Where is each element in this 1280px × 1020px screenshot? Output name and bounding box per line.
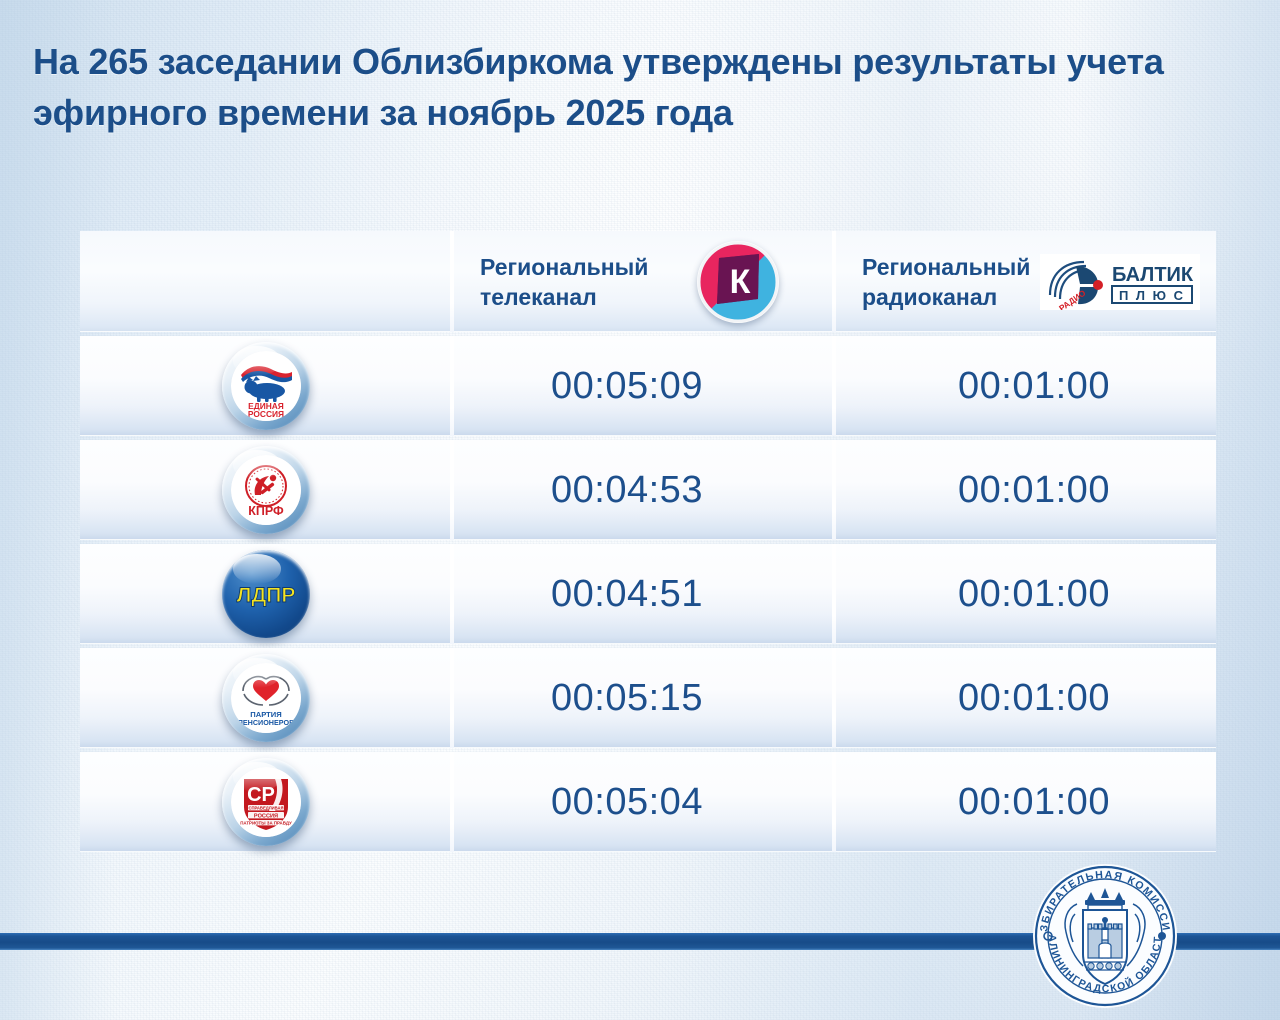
radio-logo-wrap: РАДИО БАЛТИК П Л Ю С	[1030, 254, 1216, 310]
radio-baltic-plus-logo-icon: РАДИО БАЛТИК П Л Ю С	[1040, 254, 1200, 310]
radio-time-value: 00:01:00	[834, 365, 1216, 408]
party-name-line1: ЛДПР	[237, 584, 296, 607]
slide-background: На 265 заседании Облизбиркома утверждены…	[0, 0, 1280, 1020]
tv-time-value: 00:04:51	[452, 573, 834, 616]
radio-column-label: Региональный радиоканал	[834, 252, 1030, 312]
kaskad-letter: К	[730, 263, 751, 301]
table-row: ЛДПР 00:04:51 00:01:00	[80, 544, 1216, 644]
svg-text:РОССИЯ: РОССИЯ	[254, 813, 278, 819]
tv-time-value: 00:05:15	[452, 677, 834, 720]
party-name-line2: ПЕНСИОНЕРОВ	[238, 718, 295, 727]
izbiratelnaya-komissiya-emblem-icon: ИЗБИРАТЕЛЬНАЯ КОМИССИЯ КАЛИНИНГРАДСКОЙ О…	[1031, 862, 1179, 1010]
kprf-logo-icon: КПРФ	[222, 446, 310, 534]
table-header-row: Региональный телеканал	[80, 231, 1216, 332]
header-cell-radio: Региональный радиоканал	[834, 231, 1216, 332]
party-cell: СР СПРАВЕДЛИВАЯ РОССИЯ ПАТРИОТЫ ЗА ПРАВД…	[80, 752, 452, 852]
radio-time-value: 00:01:00	[834, 573, 1216, 616]
radio-time-value: 00:01:00	[834, 469, 1216, 512]
radio-time-cell: 00:01:00	[834, 648, 1216, 748]
ldpr-logo-icon: ЛДПР	[222, 550, 310, 638]
baltic-word: БАЛТИК	[1112, 264, 1194, 286]
spravedlivaya-rossiya-logo-icon: СР СПРАВЕДЛИВАЯ РОССИЯ ПАТРИОТЫ ЗА ПРАВД…	[222, 758, 310, 846]
tv-time-cell: 00:04:53	[452, 440, 834, 540]
tv-time-cell: 00:05:04	[452, 752, 834, 852]
page-title: На 265 заседании Облизбиркома утверждены…	[33, 36, 1198, 138]
plus-word: П Л Ю С	[1119, 288, 1185, 303]
party-cell: ЛДПР	[80, 544, 452, 644]
party-cell: КПРФ	[80, 440, 452, 540]
radio-time-cell: 00:01:00	[834, 336, 1216, 436]
party-name-line1: КПРФ	[248, 504, 284, 518]
svg-text:СПРАВЕДЛИВАЯ: СПРАВЕДЛИВАЯ	[248, 805, 283, 810]
edinaya-rossiya-logo-icon: ЕДИНАЯ РОССИЯ	[222, 342, 310, 430]
partiya-pensionerov-logo-icon: ПАРТИЯ ПЕНСИОНЕРОВ	[222, 654, 310, 742]
radio-time-value: 00:01:00	[834, 677, 1216, 720]
table-row: ЕДИНАЯ РОССИЯ 00:05:09 00:01:00	[80, 336, 1216, 436]
tv-logo-wrap: К	[648, 241, 834, 323]
tv-time-cell: 00:05:09	[452, 336, 834, 436]
header-cell-party	[80, 231, 452, 332]
radio-time-cell: 00:01:00	[834, 752, 1216, 852]
radio-time-cell: 00:01:00	[834, 544, 1216, 644]
party-name-line1: СР	[247, 784, 275, 806]
party-cell: ЕДИНАЯ РОССИЯ	[80, 336, 452, 436]
table-row: СР СПРАВЕДЛИВАЯ РОССИЯ ПАТРИОТЫ ЗА ПРАВД…	[80, 752, 1216, 852]
tv-time-value: 00:05:09	[452, 365, 834, 408]
tv-time-cell: 00:05:15	[452, 648, 834, 748]
kaskad-tv-logo-icon: К	[697, 241, 779, 323]
tv-time-value: 00:04:53	[452, 469, 834, 512]
tv-column-label: Региональный телеканал	[452, 252, 648, 312]
airtime-table: Региональный телеканал	[80, 231, 1216, 852]
tv-time-value: 00:05:04	[452, 781, 834, 824]
radio-time-cell: 00:01:00	[834, 440, 1216, 540]
party-cell: ПАРТИЯ ПЕНСИОНЕРОВ	[80, 648, 452, 748]
svg-text:ПАТРИОТЫ ЗА ПРАВДУ: ПАТРИОТЫ ЗА ПРАВДУ	[240, 821, 292, 826]
table-row: КПРФ 00:04:53 00:01:00	[80, 440, 1216, 540]
tv-time-cell: 00:04:51	[452, 544, 834, 644]
header-cell-tv: Региональный телеканал	[452, 231, 834, 332]
party-name-line2: РОССИЯ	[248, 409, 284, 419]
radio-time-value: 00:01:00	[834, 781, 1216, 824]
table-row: ПАРТИЯ ПЕНСИОНЕРОВ 00:05:15 00:01:00	[80, 648, 1216, 748]
